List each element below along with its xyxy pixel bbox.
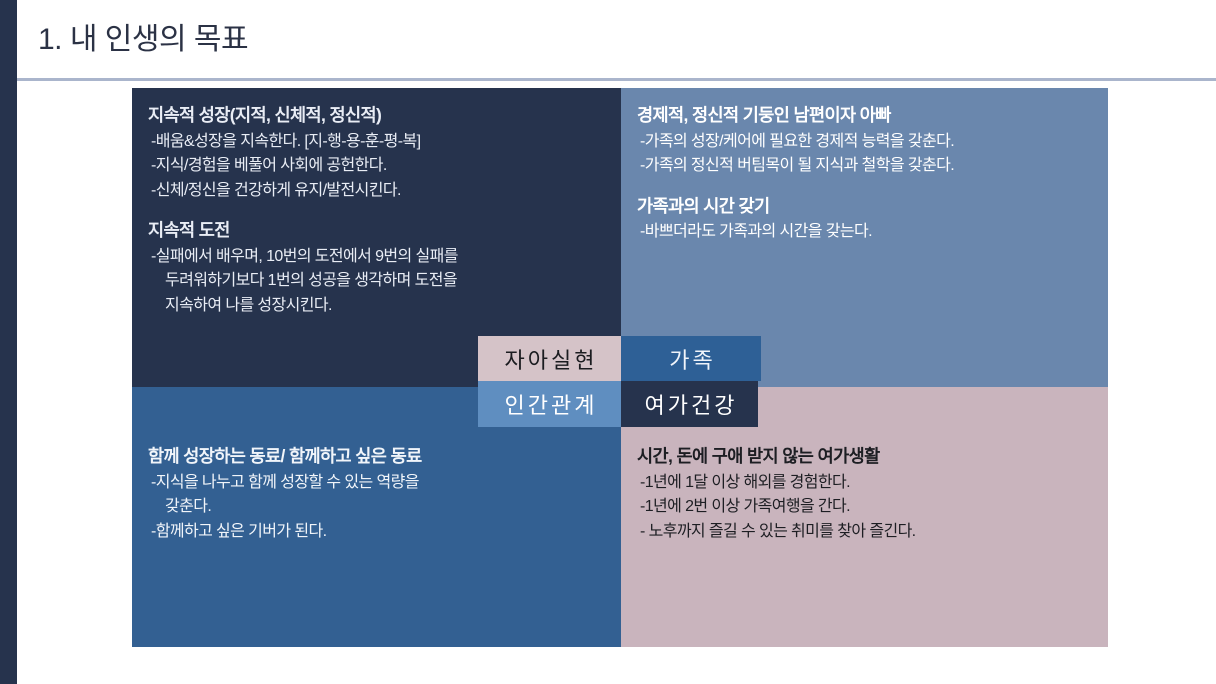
block-continuous-challenge: 지속적 도전 -실패에서 배우며, 10번의 도전에서 9번의 실패를 두려워하…: [148, 217, 605, 318]
axis-label-self-realization: 자아실현: [478, 336, 621, 381]
block-heading: 가족과의 시간 갖기: [637, 193, 1092, 220]
block-heading: 시간, 돈에 구애 받지 않는 여가생활: [637, 443, 1092, 470]
block-growing-colleagues: 함께 성장하는 동료/ 함께하고 싶은 동료 -지식을 나누고 함께 성장할 수…: [148, 443, 605, 544]
block-line: -실패에서 배우며, 10번의 도전에서 9번의 실패를: [148, 245, 605, 269]
block-line: -지식을 나누고 함께 성장할 수 있는 역량을: [148, 471, 605, 495]
block-line: -배움&성장을 지속한다. [지-행-용-훈-평-복]: [148, 130, 605, 154]
block-line: -함께하고 싶은 기버가 된다.: [148, 520, 605, 544]
block-line: -신체/정신을 건강하게 유지/발전시킨다.: [148, 179, 605, 203]
axis-label-relations: 인간관계: [478, 381, 621, 427]
block-line: 두려워하기보다 1번의 성공을 생각하며 도전을: [148, 269, 605, 293]
block-continuous-growth: 지속적 성장(지적, 신체적, 정신적) -배움&성장을 지속한다. [지-행-…: [148, 102, 605, 203]
block-line: -가족의 성장/케어에 필요한 경제적 능력을 갖춘다.: [637, 130, 1092, 154]
block-line: -1년에 1달 이상 해외를 경험한다.: [637, 471, 1092, 495]
block-line: -가족의 정신적 버팀목이 될 지식과 철학을 갖춘다.: [637, 154, 1092, 178]
title-divider: [17, 78, 1216, 81]
left-accent-bar: [0, 0, 17, 684]
block-pillar-husband-father: 경제적, 정신적 기둥인 남편이자 아빠 -가족의 성장/케어에 필요한 경제적…: [637, 102, 1092, 179]
block-leisure-life: 시간, 돈에 구애 받지 않는 여가생활 -1년에 1달 이상 해외를 경험한다…: [637, 443, 1092, 544]
block-line: -바쁘더라도 가족과의 시간을 갖는다.: [637, 220, 1092, 244]
block-heading: 지속적 도전: [148, 217, 605, 244]
block-line: -지식/경험을 베풀어 사회에 공헌한다.: [148, 154, 605, 178]
block-time-with-family: 가족과의 시간 갖기 -바쁘더라도 가족과의 시간을 갖는다.: [637, 193, 1092, 245]
block-line: 갖춘다.: [148, 495, 605, 519]
block-line: -1년에 2번 이상 가족여행을 간다.: [637, 495, 1092, 519]
axis-label-family: 가족: [621, 336, 761, 381]
page-title: 1. 내 인생의 목표: [38, 14, 248, 58]
axis-label-leisure-health: 여가건강: [621, 381, 758, 427]
block-line: - 노후까지 즐길 수 있는 취미를 찾아 즐긴다.: [637, 520, 1092, 544]
block-line: 지속하여 나를 성장시킨다.: [148, 294, 605, 318]
block-heading: 경제적, 정신적 기둥인 남편이자 아빠: [637, 102, 1092, 129]
block-heading: 함께 성장하는 동료/ 함께하고 싶은 동료: [148, 443, 605, 470]
goal-matrix: 지속적 성장(지적, 신체적, 정신적) -배움&성장을 지속한다. [지-행-…: [132, 88, 1108, 647]
block-heading: 지속적 성장(지적, 신체적, 정신적): [148, 102, 605, 129]
